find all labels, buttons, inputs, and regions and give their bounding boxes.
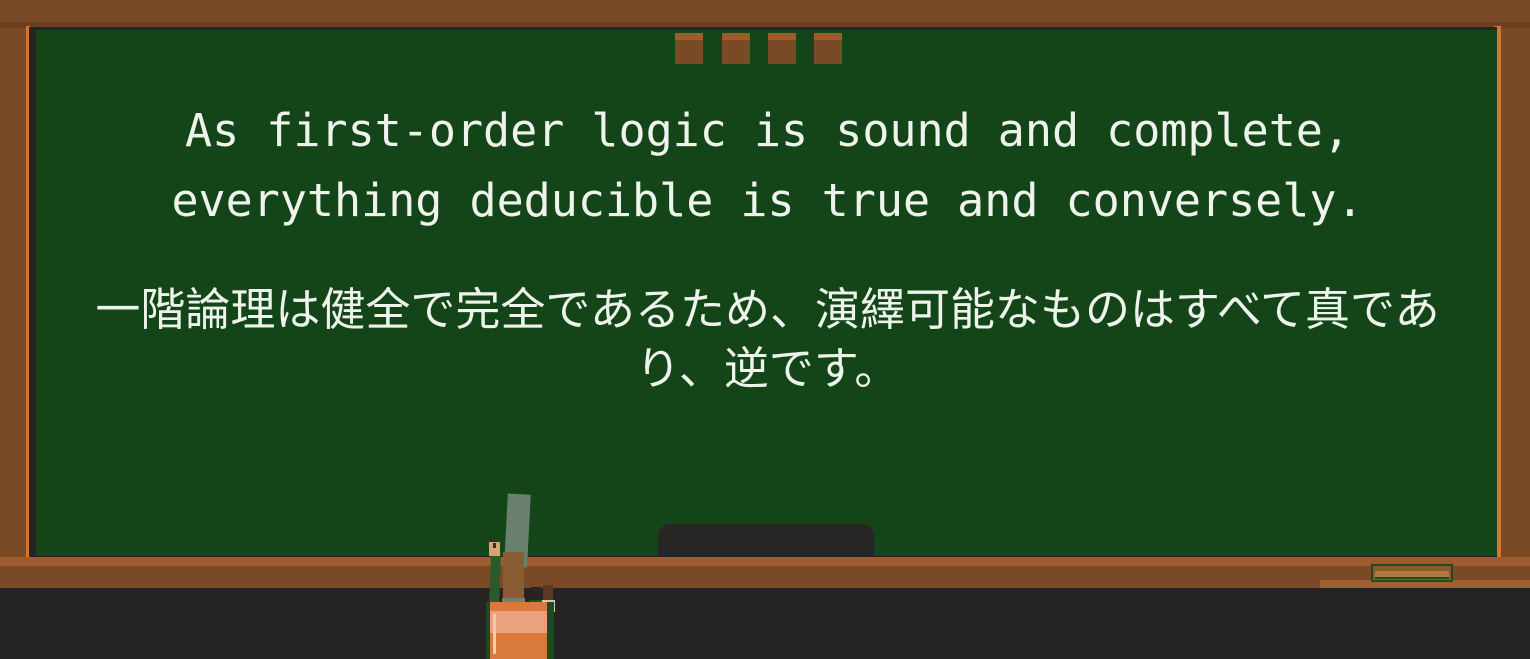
floor: [0, 588, 1530, 659]
pencil-cup-highlight: [493, 614, 496, 654]
pencil-cup-right-edge: [547, 602, 554, 659]
pencil: [489, 552, 501, 608]
chalk-stick: [531, 587, 541, 601]
japanese-quote: 一階論理は健全で完全であるため、演繹可能なものはすべて真であり、逆です。: [70, 280, 1465, 398]
chair-slat: [814, 33, 842, 64]
chalk-ledge-body: [0, 566, 1530, 588]
pencil-cup-left-edge: [486, 602, 490, 659]
pencil-cup-band: [486, 633, 554, 659]
board-text-block: As first-order logic is sound and comple…: [70, 96, 1465, 398]
chair-slat: [675, 33, 703, 64]
chalk-stick: [543, 585, 553, 601]
eraser-felt: [1375, 571, 1449, 579]
pencil-lead: [493, 543, 496, 548]
chalk-ledge-top: [0, 557, 1530, 566]
chair-slat: [768, 33, 796, 64]
pencil-cup-rim: [486, 602, 554, 611]
english-quote: As first-order logic is sound and comple…: [70, 96, 1465, 236]
pencil-cup-group: [485, 490, 557, 659]
blackboard-scene: As first-order logic is sound and comple…: [0, 0, 1530, 659]
chair-slat: [722, 33, 750, 64]
